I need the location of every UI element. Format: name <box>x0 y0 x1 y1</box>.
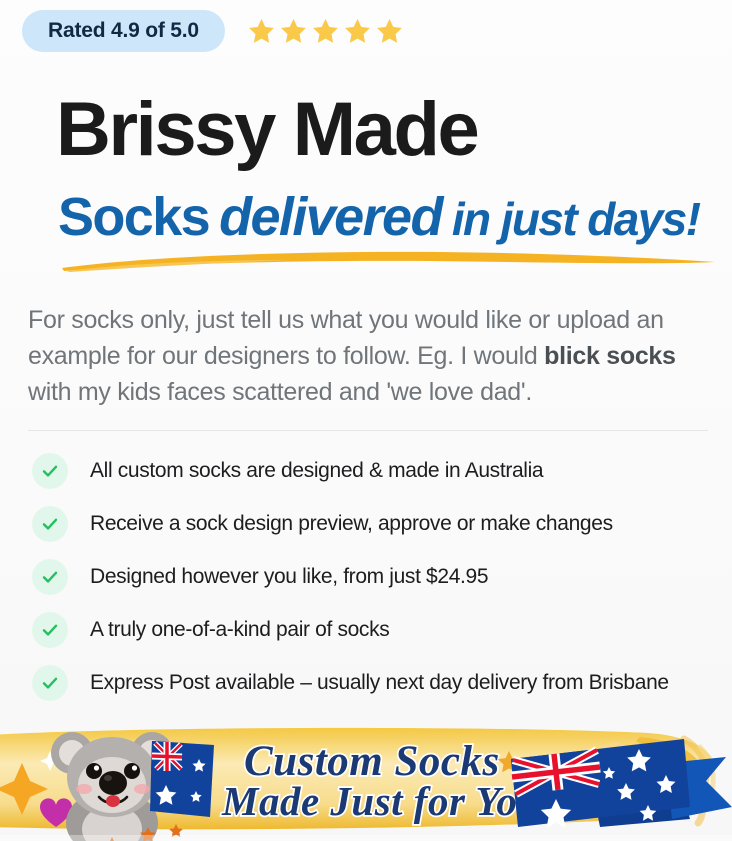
star-icon <box>375 17 404 46</box>
list-item: All custom socks are designed & made in … <box>32 444 722 497</box>
list-item-label: All custom socks are designed & made in … <box>90 459 543 483</box>
description-segment-2: with my kids faces scattered and 'we lov… <box>28 378 532 406</box>
list-item: A truly one-of-a-kind pair of socks <box>32 603 722 656</box>
headline-secondary-part3: in just days! <box>452 193 700 245</box>
star-rating <box>247 17 404 46</box>
star-icon <box>279 17 308 46</box>
headline-secondary-part2: delivered <box>219 187 442 247</box>
check-icon <box>32 665 68 701</box>
check-icon <box>32 612 68 648</box>
list-item-label: Express Post available – usually next da… <box>90 671 669 695</box>
star-icon <box>311 17 340 46</box>
rating-row: Rated 4.9 of 5.0 <box>22 10 404 52</box>
banner-artwork: Custom Socks Made Just for You! <box>0 723 732 841</box>
brush-underline <box>60 248 720 274</box>
list-item: Express Post available – usually next da… <box>32 656 722 709</box>
banner-title-line2: Made Just for You! <box>221 778 557 824</box>
star-icon <box>343 17 372 46</box>
section-divider <box>28 430 708 431</box>
list-item: Receive a sock design preview, approve o… <box>32 497 722 550</box>
headline-secondary: Socksdeliveredin just days! <box>58 190 699 244</box>
check-icon <box>32 559 68 595</box>
promo-banner: Custom Socks Made Just for You! <box>0 723 732 841</box>
list-item-label: Receive a sock design preview, approve o… <box>90 512 613 536</box>
list-item-label: A truly one-of-a-kind pair of socks <box>90 618 389 642</box>
headline-primary: Brissy Made <box>56 92 477 168</box>
flag-small-icon <box>150 741 214 817</box>
headline-secondary-part1: Socks <box>58 187 209 247</box>
check-icon <box>32 506 68 542</box>
description-paragraph: For socks only, just tell us what you wo… <box>28 302 718 410</box>
rating-badge: Rated 4.9 of 5.0 <box>22 10 225 52</box>
list-item-label: Designed however you like, from just $24… <box>90 565 488 589</box>
list-item: Designed however you like, from just $24… <box>32 550 722 603</box>
check-icon <box>32 453 68 489</box>
feature-list: All custom socks are designed & made in … <box>32 444 722 709</box>
star-icon <box>247 17 276 46</box>
promo-page: Rated 4.9 of 5.0 Brissy Made Socksdelive… <box>0 0 732 841</box>
description-emphasis: blick socks <box>544 342 676 370</box>
